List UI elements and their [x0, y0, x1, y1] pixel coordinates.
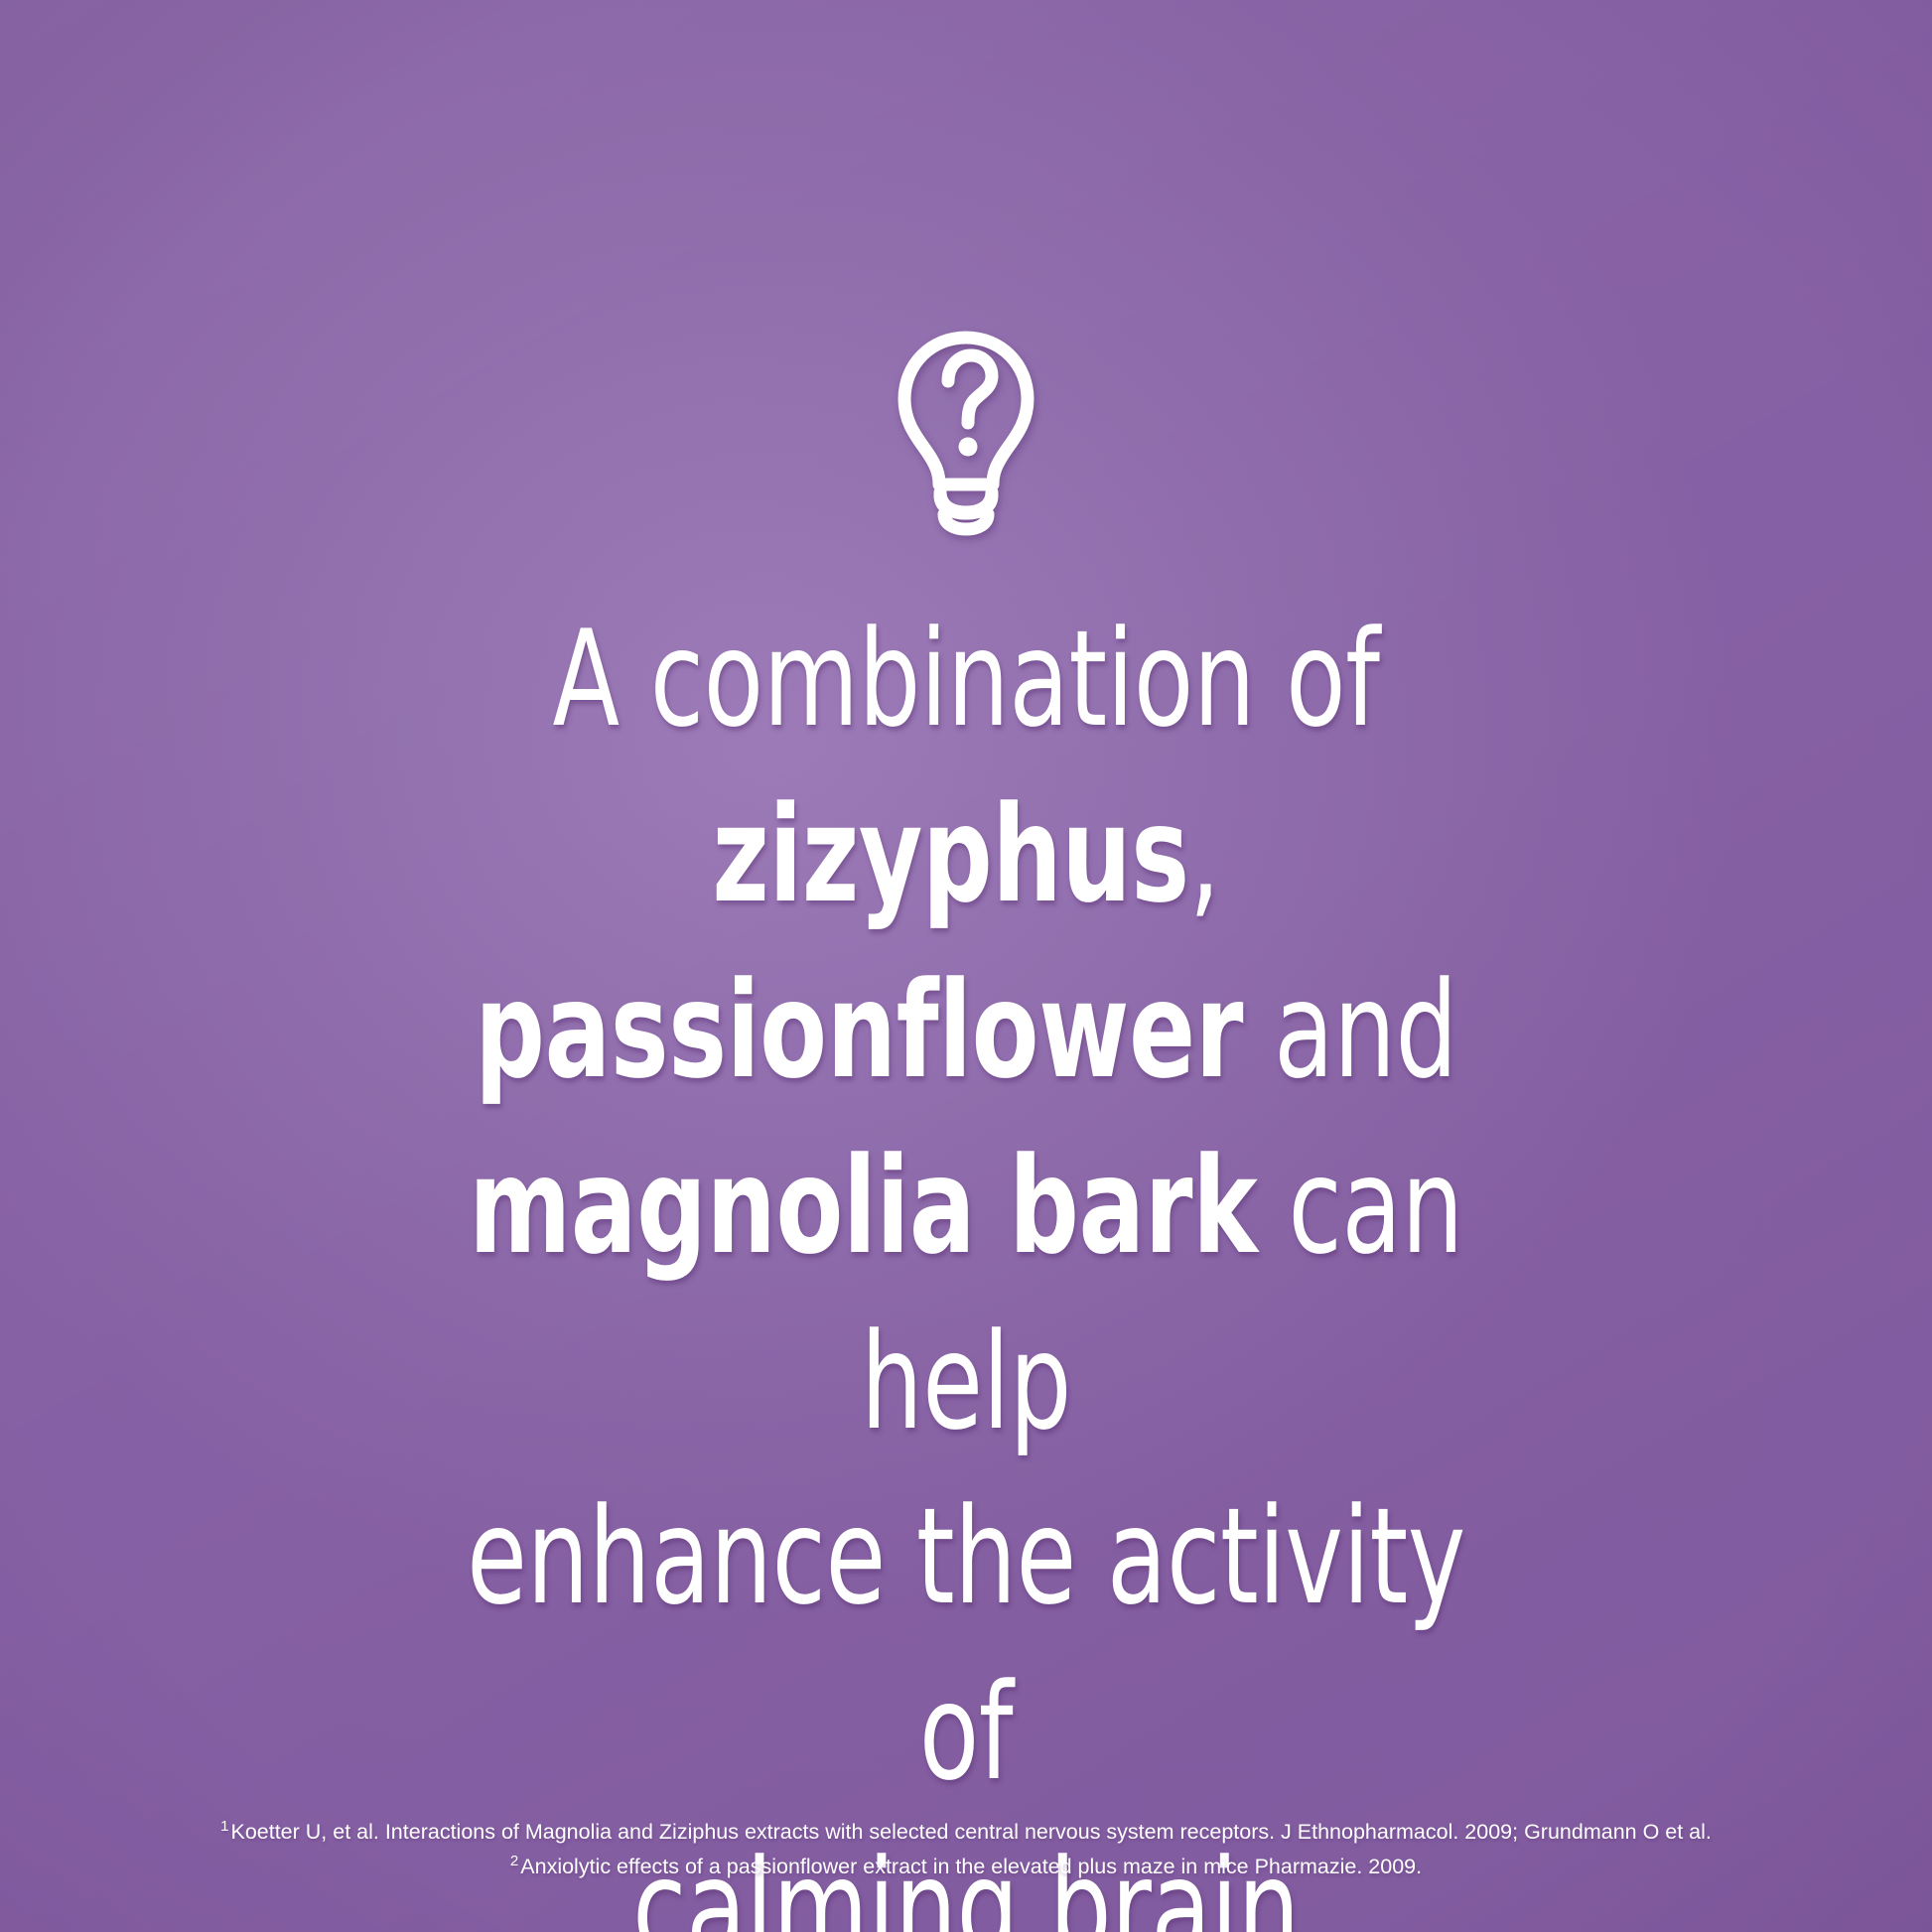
question-lightbulb-icon	[892, 330, 1040, 540]
headline-line: passionflower and	[425, 943, 1508, 1119]
fact-card: A combination of zizyphus,passionflower …	[0, 0, 1932, 1932]
headline-text: enhance the activity of	[467, 1479, 1465, 1810]
footnote-marker: 1	[220, 1818, 230, 1835]
headline-line: enhance the activity of	[425, 1469, 1508, 1821]
headline-text: A combination of	[553, 602, 1380, 757]
headline-emphasis: magnolia bark	[469, 1129, 1257, 1284]
headline-text: and	[1243, 953, 1457, 1108]
question-mark-dot-icon	[959, 438, 978, 457]
footnote-item: 2Anxiolytic effects of a passionflower e…	[119, 1850, 1813, 1884]
card-content: A combination of zizyphus,passionflower …	[0, 0, 1932, 1932]
footnote-text: Koetter U, et al. Interactions of Magnol…	[230, 1820, 1711, 1844]
headline-line: magnolia bark can help	[425, 1119, 1508, 1470]
headline-emphasis: zizyphus	[712, 777, 1188, 932]
headline: A combination of zizyphus,passionflower …	[425, 592, 1508, 1932]
footnote-item: 1Koetter U, et al. Interactions of Magno…	[119, 1815, 1813, 1850]
footnote-marker: 2	[510, 1853, 520, 1869]
headline-line: A combination of zizyphus,	[425, 592, 1508, 943]
headline-text: ,	[1189, 777, 1220, 932]
footnote-citations: 1Koetter U, et al. Interactions of Magno…	[0, 1815, 1932, 1884]
question-mark-hook-icon	[948, 355, 992, 423]
headline-emphasis: passionflower	[475, 953, 1243, 1108]
footnote-text: Anxiolytic effects of a passionflower ex…	[520, 1855, 1422, 1878]
